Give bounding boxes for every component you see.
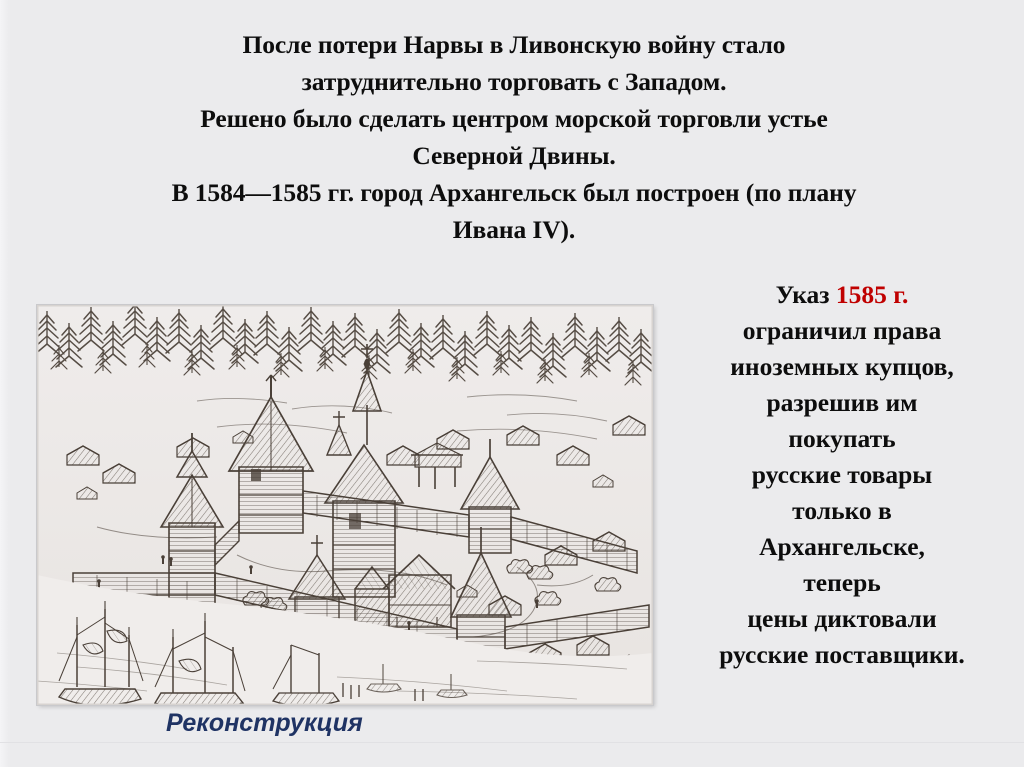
decree-line-5: покупать <box>666 421 1018 457</box>
decree-prefix: Указ <box>776 280 836 309</box>
fortress-reconstruction-image <box>37 305 653 705</box>
heading-line-4: Северной Двины. <box>96 137 932 174</box>
decree-line-6: русские товары <box>666 457 1018 493</box>
decree-line-2: ограничил права <box>666 313 1018 349</box>
image-caption: Реконструкция <box>166 709 363 738</box>
heading-line-2: затруднительно торговать с Западом. <box>96 63 932 100</box>
decree-line-10: цены диктовали <box>666 601 1018 637</box>
heading-line-1: После потери Нарвы в Ливонскую войну ста… <box>96 26 932 63</box>
decree-line-8: Архангельске, <box>666 529 1018 565</box>
heading-line-6: Ивана IV). <box>96 211 932 248</box>
decree-line-1: Указ 1585 г. <box>666 277 1018 313</box>
decree-text-block: Указ 1585 г. ограничил права иноземных к… <box>666 277 1018 673</box>
fortress-engraving-svg <box>37 305 653 705</box>
slide-left-edge-gradient <box>0 0 10 767</box>
decree-line-9: теперь <box>666 565 1018 601</box>
decree-year-accent: 1585 г. <box>836 280 908 309</box>
slide-bottom-rule <box>0 742 1024 743</box>
decree-line-4: разрешив им <box>666 385 1018 421</box>
heading-line-5: В 1584—1585 гг. город Архангельск был по… <box>96 174 932 211</box>
decree-line-3: иноземных купцов, <box>666 349 1018 385</box>
page-title: После потери Нарвы в Ливонскую войну ста… <box>96 26 932 248</box>
decree-line-11: русские поставщики. <box>666 637 1018 673</box>
heading-line-3: Решено было сделать центром морской торг… <box>96 100 932 137</box>
decree-line-7: только в <box>666 493 1018 529</box>
